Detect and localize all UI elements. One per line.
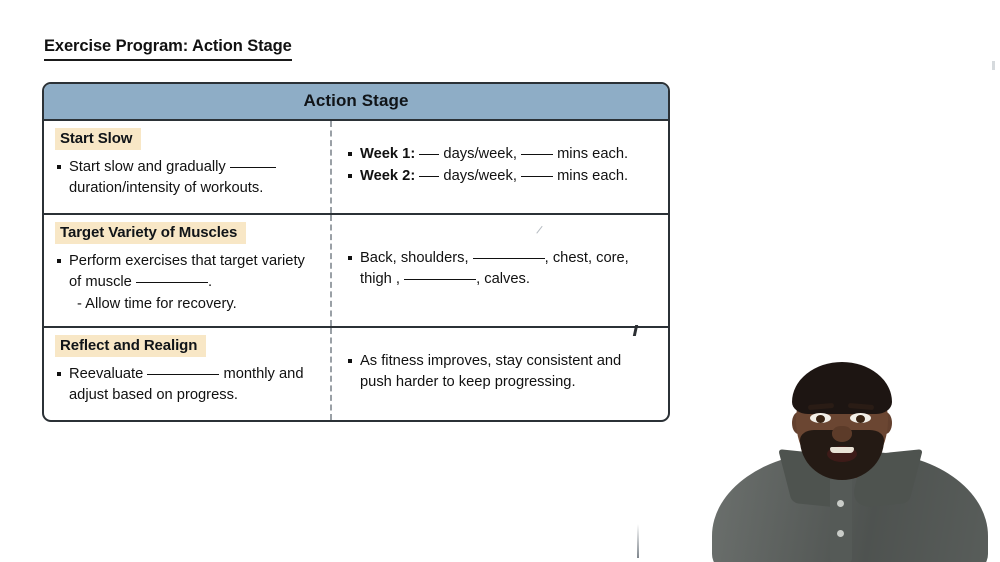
row-title: Start Slow: [55, 128, 141, 150]
table-cell-right: Back, shoulders, , chest, core, thigh , …: [332, 215, 668, 326]
bullet-label: Week 1:: [360, 146, 415, 162]
fill-in-blank: [521, 176, 553, 177]
row-title: Target Variety of Muscles: [55, 222, 246, 244]
fill-in-blank: [230, 167, 276, 168]
list-item: Week 2: days/week, mins each.: [346, 166, 656, 187]
list-item: Start slow and gradually duration/intens…: [55, 157, 320, 199]
pen-mark-lower-icon: [637, 524, 639, 558]
fill-in-blank: [136, 282, 208, 283]
action-stage-table: Action Stage Start SlowStart slow and gr…: [42, 82, 670, 422]
table-cell-left: Start SlowStart slow and gradually durat…: [44, 121, 332, 213]
presenter-teeth: [830, 447, 854, 453]
table-cell-left: Reflect and RealignReevaluate monthly an…: [44, 328, 332, 420]
list-item: - Allow time for recovery.: [55, 294, 320, 315]
table-cell-right: As fitness improves, stay consistent and…: [332, 328, 668, 420]
fill-in-blank: [473, 258, 545, 259]
left-bullet-list: Reevaluate monthly and adjust based on p…: [55, 364, 320, 406]
list-item: As fitness improves, stay consistent and…: [346, 351, 656, 393]
presenter-eye-left: [810, 413, 831, 423]
bullet-label: Week 2:: [360, 168, 415, 184]
right-bullet-list: As fitness improves, stay consistent and…: [346, 351, 656, 394]
right-bullet-list: Week 1: days/week, mins each.Week 2: day…: [346, 144, 656, 188]
table-header-title: Action Stage: [44, 84, 668, 121]
left-bullet-list: Start slow and gradually duration/intens…: [55, 157, 320, 199]
right-bullet-list: Back, shoulders, , chest, core, thigh , …: [346, 248, 656, 291]
presenter-shirt-placket: [830, 476, 852, 562]
fill-in-blank: [147, 374, 219, 375]
list-item: Perform exercises that target variety of…: [55, 251, 320, 293]
list-item: Reevaluate monthly and adjust based on p…: [55, 364, 320, 406]
left-bullet-list: Perform exercises that target variety of…: [55, 251, 320, 316]
table-body: Start SlowStart slow and gradually durat…: [44, 121, 668, 420]
presenter-nose: [832, 426, 852, 442]
list-item: Back, shoulders, , chest, core, thigh , …: [346, 248, 656, 290]
row-title: Reflect and Realign: [55, 335, 206, 357]
table-row: Target Variety of MusclesPerform exercis…: [44, 215, 668, 328]
table-row: Reflect and RealignReevaluate monthly an…: [44, 328, 668, 420]
presenter-shirt-button: [837, 530, 844, 537]
table-cell-left: Target Variety of MusclesPerform exercis…: [44, 215, 332, 326]
fill-in-blank: [404, 279, 476, 280]
table-row: Start SlowStart slow and gradually durat…: [44, 121, 668, 215]
fill-in-blank: [419, 176, 439, 177]
presenter-video-overlay: [700, 360, 1000, 562]
page-title: Exercise Program: Action Stage: [44, 37, 292, 61]
fill-in-blank: [419, 154, 439, 155]
presenter-eye-right: [850, 413, 871, 423]
list-item: Week 1: days/week, mins each.: [346, 144, 656, 165]
table-cell-right: Week 1: days/week, mins each.Week 2: day…: [332, 121, 668, 213]
pen-mark-edge-icon: [992, 61, 995, 70]
presenter-shirt-button: [837, 500, 844, 507]
fill-in-blank: [521, 154, 553, 155]
